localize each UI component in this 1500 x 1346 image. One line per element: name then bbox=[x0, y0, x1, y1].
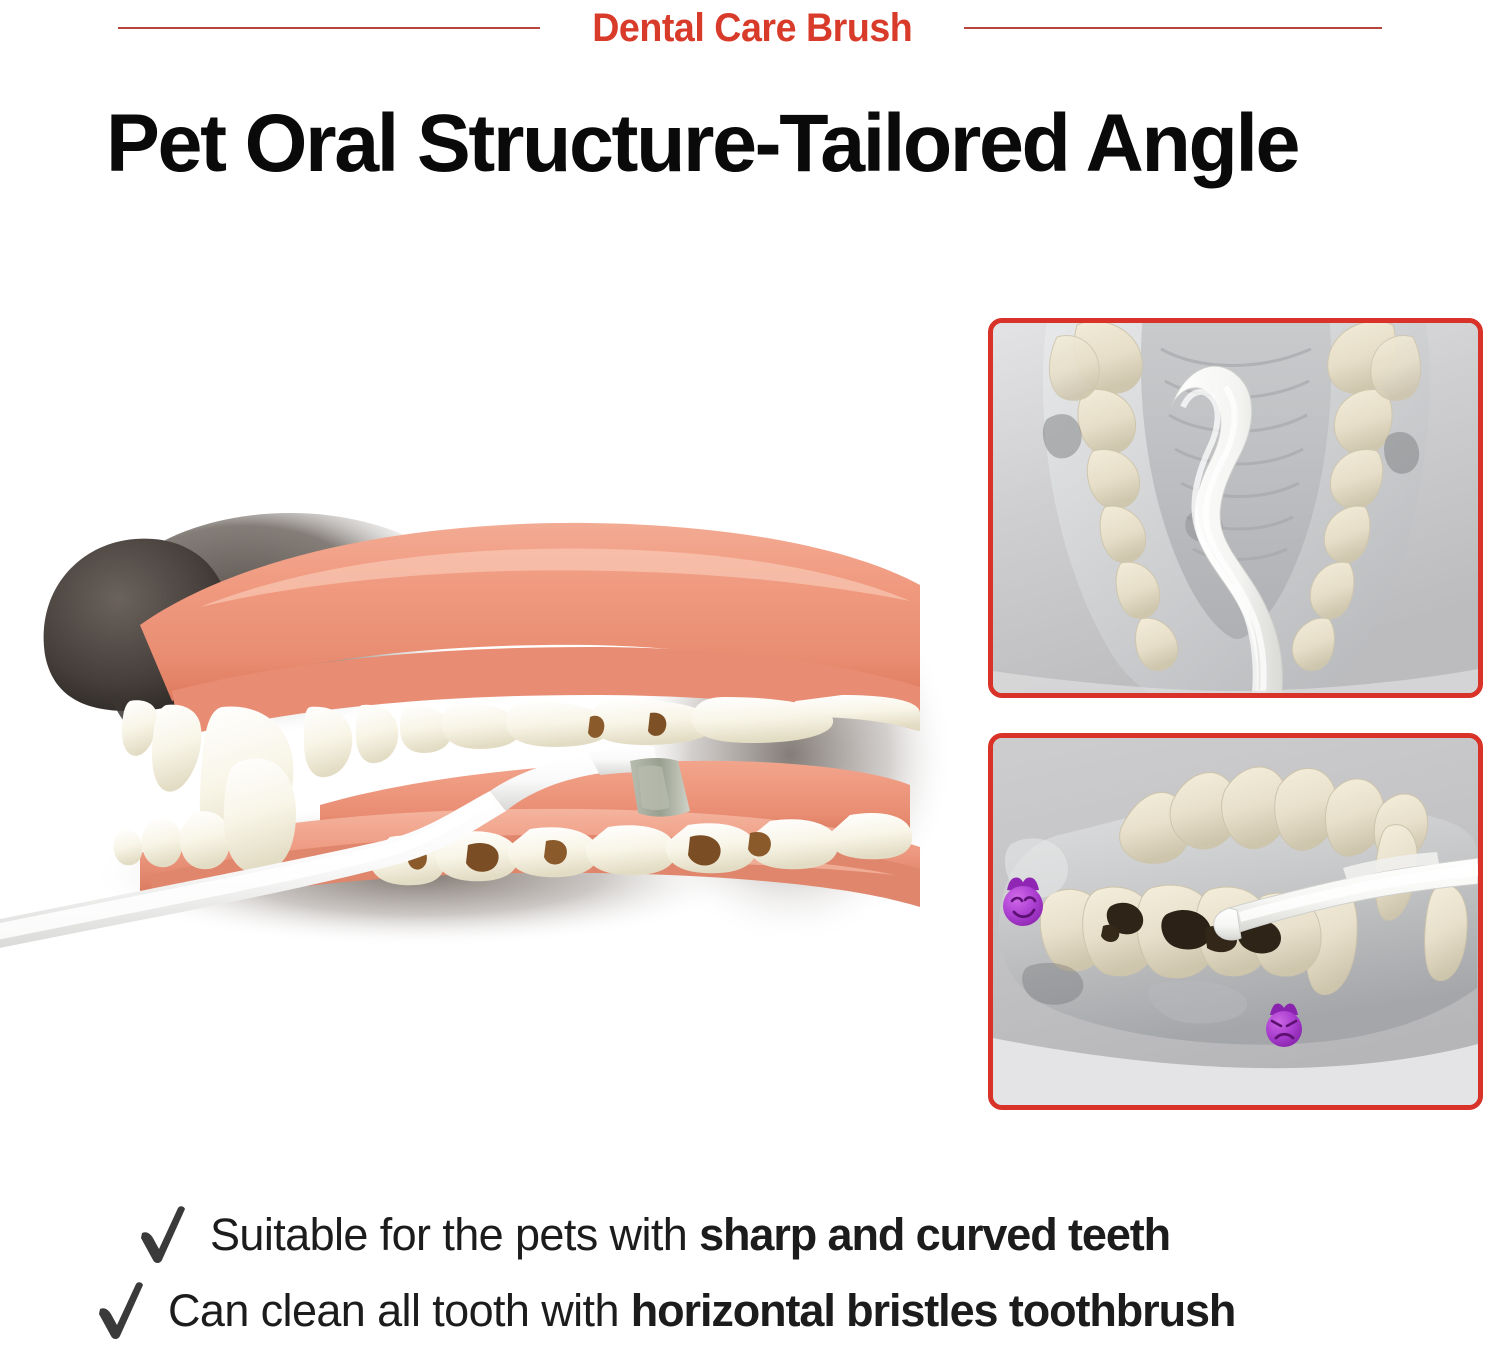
devil-emoji-smirk-icon bbox=[1003, 878, 1043, 927]
photo-panel-top bbox=[988, 318, 1483, 698]
list-item: Suitable for the pets with sharp and cur… bbox=[0, 1196, 1500, 1272]
page-title: Pet Oral Structure-Tailored Angle bbox=[106, 103, 1475, 185]
list-item: Can clean all tooth with horizontal bris… bbox=[0, 1272, 1500, 1346]
photo-panel-bottom bbox=[988, 733, 1483, 1110]
tartar-spot bbox=[466, 843, 499, 872]
tartar-spot bbox=[748, 832, 771, 857]
tartar-spot bbox=[544, 840, 567, 865]
devil-emoji-angry-icon bbox=[1266, 1003, 1302, 1047]
list-item-text: Can clean all tooth with horizontal bris… bbox=[168, 1288, 1235, 1333]
horizontal-rule-left-icon bbox=[118, 27, 540, 29]
check-mark-icon bbox=[138, 1205, 190, 1263]
kicker-title: Dental Care Brush bbox=[592, 8, 912, 48]
bullet-plain-0: Suitable for the pets with bbox=[210, 1209, 699, 1260]
list-item-text: Suitable for the pets with sharp and cur… bbox=[210, 1212, 1170, 1257]
horizontal-rule-right-icon bbox=[964, 27, 1382, 29]
product-infographic: Dental Care Brush Pet Oral Structure-Tai… bbox=[0, 0, 1500, 1346]
check-mark-icon bbox=[96, 1281, 148, 1339]
kicker-band: Dental Care Brush bbox=[0, 0, 1500, 56]
bullet-bold-1: horizontal bristles toothbrush bbox=[631, 1285, 1236, 1336]
bullet-bold-0: sharp and curved teeth bbox=[699, 1209, 1170, 1260]
dog-mouth-brushing-illustration bbox=[0, 455, 950, 965]
feature-bullets: Suitable for the pets with sharp and cur… bbox=[0, 1196, 1500, 1346]
bullet-plain-1: Can clean all tooth with bbox=[168, 1285, 631, 1336]
